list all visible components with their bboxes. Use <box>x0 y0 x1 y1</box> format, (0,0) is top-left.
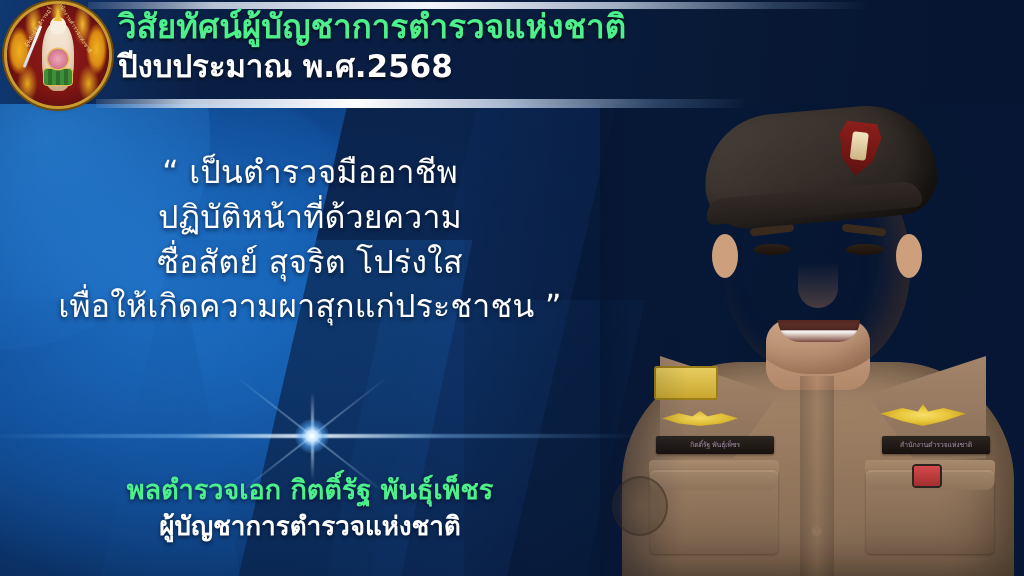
emblem-skirt <box>44 69 73 84</box>
signature-rank-name: พลตำรวจเอก กิตติ์รัฐ พันธุ์เพ็ชร <box>0 474 620 508</box>
eye-right <box>846 244 884 255</box>
eye-left <box>753 244 791 255</box>
red-rank-patch <box>914 466 940 486</box>
royal-thai-police-emblem-icon: ผู้พิทักษ์สันติราษฎร์ สำนักงานตำรวจแห่งช… <box>7 4 109 106</box>
header-title-line2: ปีงบประมาณ พ.ศ.2568 <box>118 49 758 86</box>
quote-line-1: “ เป็นตำรวจมืออาชีพ <box>0 150 620 195</box>
chest-pocket-left <box>650 470 778 554</box>
ear-right <box>896 234 922 278</box>
signature-position: ผู้บัญชาการตำรวจแห่งชาติ <box>0 511 620 544</box>
quote-line-4: เพื่อให้เกิดความผาสุกแก่ประชาชน ” <box>0 284 620 329</box>
quote-line-2: ปฏิบัติหน้าที่ด้วยความ <box>0 195 620 240</box>
uniform-nametag-right: สำนักงานตำรวจแห่งชาติ <box>882 436 990 454</box>
uniform-nametag-left: กิตติ์รัฐ พันธุ์เพ็ชร <box>656 436 774 454</box>
quote-line-3: ซื่อสัตย์ สุจริต โปร่งใส <box>0 240 620 285</box>
divider-header <box>96 99 748 108</box>
uniform-nametag-right-text: สำนักงานตำรวจแห่งชาติ <box>900 440 972 451</box>
ear-left <box>712 234 738 278</box>
mouth-smile <box>778 320 860 342</box>
vision-banner: กิตติ์รัฐ พันธุ์เพ็ชร สำนักงานตำรวจแห่งช… <box>0 0 1024 576</box>
header-title-line1: วิสัยทัศน์ผู้บัญชาการตำรวจแห่งชาติ <box>118 8 758 47</box>
uniform-placket <box>800 376 834 576</box>
vision-quote: “ เป็นตำรวจมืออาชีพ ปฏิบัติหน้าที่ด้วยคว… <box>0 150 620 329</box>
shoulder-insignia <box>654 366 718 400</box>
nose <box>798 262 838 308</box>
sleeve-emblem <box>612 476 668 536</box>
uniform-nametag-left-text: กิตติ์รัฐ พันธุ์เพ็ชร <box>690 440 740 451</box>
signature-block: พลตำรวจเอก กิตติ์รัฐ พันธุ์เพ็ชร ผู้บัญช… <box>0 474 620 543</box>
portrait-photo: กิตติ์รัฐ พันธุ์เพ็ชร สำนักงานตำรวจแห่งช… <box>600 84 1024 576</box>
flare-core-glow <box>295 419 329 453</box>
header-text-group: วิสัยทัศน์ผู้บัญชาการตำรวจแห่งชาติ ปีงบป… <box>118 8 758 86</box>
uniform-buttons <box>812 526 822 536</box>
